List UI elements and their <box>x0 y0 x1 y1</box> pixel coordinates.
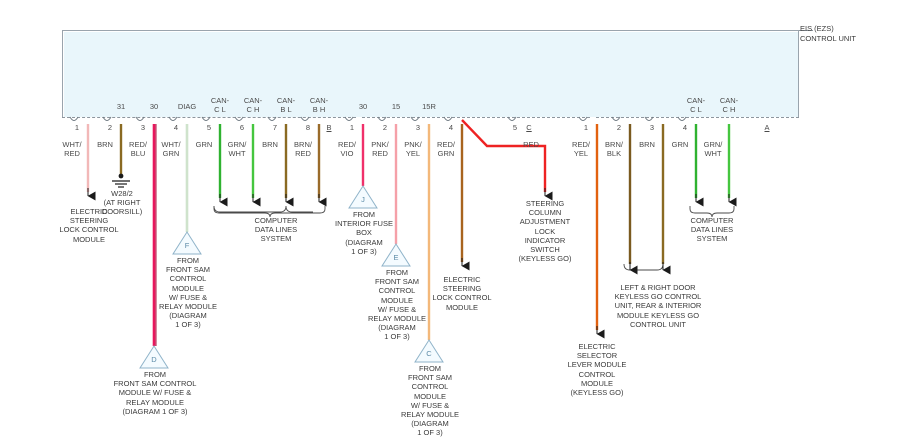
terminal-label-can-c-h: CAN- C H <box>236 96 270 114</box>
dest-electric-selector: ELECTRIC SELECTOR LEVER MODULE CONTROL M… <box>552 342 642 397</box>
terminal-label-can-b-h: CAN- B H <box>302 96 336 114</box>
pin-number-c2: 2 <box>608 123 630 132</box>
splice-letter-j: J <box>344 195 382 204</box>
pin-number-a3: 3 <box>132 123 154 132</box>
pin-number-a8: 8 <box>297 123 319 132</box>
dest-splice-f-text: FROM FRONT SAM CONTROL MODULE W/ FUSE & … <box>152 256 224 330</box>
dest-splice-d-text: FROM FRONT SAM CONTROL MODULE W/ FUSE & … <box>81 370 229 416</box>
dest-computer-data-lines-left: COMPUTER DATA LINES SYSTEM <box>228 216 324 244</box>
terminal-label-30: 30 <box>137 102 171 111</box>
wire-color-c1: BRN/ BLK <box>597 140 631 158</box>
terminal-label-can-b-l: CAN- B L <box>269 96 303 114</box>
wire-color-b1: RED/ VIO <box>330 140 364 158</box>
wiring-diagram-canvas: EIS (EZS) CONTROL UNIT <box>0 0 897 442</box>
wire-color-b3: PNK/ YEL <box>396 140 430 158</box>
dest-computer-data-lines-right: COMPUTER DATA LINES SYSTEM <box>664 216 760 244</box>
terminal-label-30b: 30 <box>346 102 380 111</box>
wire-color-a2: BRN <box>88 140 122 149</box>
wire-color-red-branch: RED <box>514 140 548 149</box>
dest-splice-j-text: FROM INTERIOR FUSE BOX (DIAGRAM 1 OF 3) <box>325 210 403 256</box>
pin-number-a6: 6 <box>231 123 253 132</box>
wire-color-a4: WHT/ GRN <box>154 140 188 158</box>
splice-letter-f: F <box>168 241 206 250</box>
splice-letter-c: C <box>410 349 448 358</box>
pin-number-a5: 5 <box>198 123 220 132</box>
splice-letter-d: D <box>135 355 173 364</box>
wire-color-c2: BRN <box>630 140 664 149</box>
terminal-label-can-c-l-2: CAN- C L <box>679 96 713 114</box>
terminal-label-diag: DIAG <box>170 102 204 111</box>
dest-splice-c-text: FROM FRONT SAM CONTROL MODULE W/ FUSE & … <box>394 364 466 438</box>
wire-color-c5: RED/ YEL <box>564 140 598 158</box>
pin-number-a7: 7 <box>264 123 286 132</box>
pin-number-c4: 4 <box>674 123 696 132</box>
wire-color-a8: BRN/ RED <box>286 140 320 158</box>
wire-color-c3: GRN <box>663 140 697 149</box>
pin-number-b2: 2 <box>374 123 396 132</box>
wire-color-b2: PNK/ RED <box>363 140 397 158</box>
wire-color-a1: WHT/ RED <box>55 140 89 158</box>
pin-number-b4: 4 <box>440 123 462 132</box>
wire-color-c4: GRN/ WHT <box>696 140 730 158</box>
terminal-label-can-c-l: CAN- C L <box>203 96 237 114</box>
terminal-label-15: 15 <box>379 102 413 111</box>
pin-number-b1: 1 <box>341 123 363 132</box>
terminal-label-31: 31 <box>104 102 138 111</box>
wire-color-b4: RED/ GRN <box>429 140 463 158</box>
dest-steering-column-switch: STEERING COLUMN ADJUSTMENT LOCK INDICATO… <box>503 199 587 263</box>
dest-ground-w28-2: W28/2 (AT RIGHT DOORSILL) <box>82 189 162 217</box>
terminal-label-can-c-h-2: CAN- C H <box>712 96 746 114</box>
wire-color-a5: GRN <box>187 140 221 149</box>
dest-keyless-go-doors: LEFT & RIGHT DOOR KEYLESS GO CONTROL UNI… <box>594 283 722 329</box>
wire-color-a7: BRN <box>253 140 287 149</box>
connector-letter-a: A <box>760 123 774 132</box>
dest-electric-steering-lock-mid: ELECTRIC STEERING LOCK CONTROL MODULE <box>417 275 507 312</box>
connector-letter-c: C <box>522 123 536 132</box>
pin-number-b3: 3 <box>407 123 429 132</box>
wire-color-a6: GRN/ WHT <box>220 140 254 158</box>
pin-number-a1: 1 <box>66 123 88 132</box>
terminal-label-15r: 15R <box>412 102 446 111</box>
pin-number-a2: 2 <box>99 123 121 132</box>
pin-number-a4: 4 <box>165 123 187 132</box>
connector-letter-b: B <box>322 123 336 132</box>
pin-number-c3: 3 <box>641 123 663 132</box>
pin-number-c1: 1 <box>575 123 597 132</box>
wire-color-a3: RED/ BLU <box>121 140 155 158</box>
